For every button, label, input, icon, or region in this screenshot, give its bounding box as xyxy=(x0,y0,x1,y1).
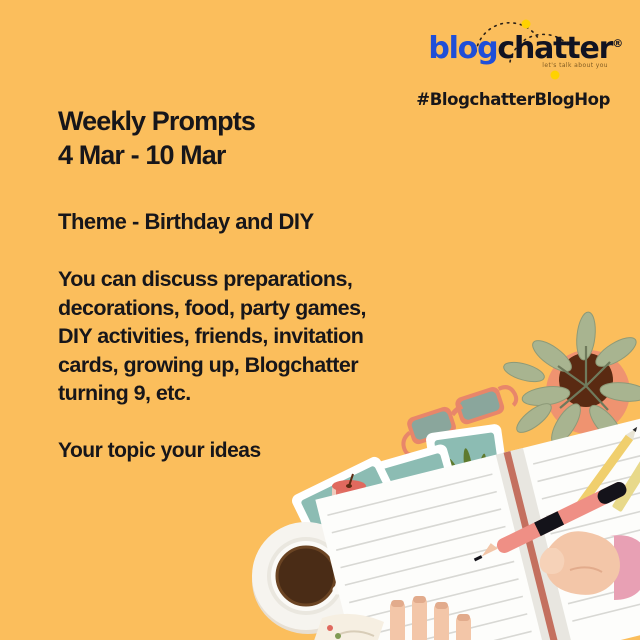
page-title: Weekly Prompts 4 Mar - 10 Mar xyxy=(58,104,478,173)
resting-hand-icon xyxy=(390,596,471,640)
registered-trademark-icon: ® xyxy=(612,37,622,50)
weekly-prompt-poster: blogchatter® let's talk about you #Blogc… xyxy=(0,0,640,640)
highlighter-icon xyxy=(612,432,640,512)
writing-hand-icon xyxy=(471,479,640,600)
candle-jar-icon xyxy=(332,474,366,526)
brand-logo-block: blogchatter® let's talk about you #Blogc… xyxy=(382,18,622,118)
potted-plant-icon xyxy=(502,311,640,448)
closing-line: Your topic your ideas xyxy=(58,438,478,463)
brand-tagline: let's talk about you xyxy=(542,62,608,69)
coffee-cup-icon xyxy=(252,522,364,634)
pencil-icon xyxy=(575,424,640,509)
logo-word-blog: blog xyxy=(428,31,497,66)
logo-word-chatter: chatter xyxy=(497,31,612,66)
magazine-corner-icon xyxy=(310,614,384,640)
poster-text-column: Weekly Prompts 4 Mar - 10 Mar Theme - Bi… xyxy=(58,104,478,463)
brand-wordmark: blogchatter® xyxy=(382,34,622,64)
theme-line: Theme - Birthday and DIY xyxy=(58,209,478,235)
prompt-description: You can discuss preparations, decoration… xyxy=(58,265,478,408)
